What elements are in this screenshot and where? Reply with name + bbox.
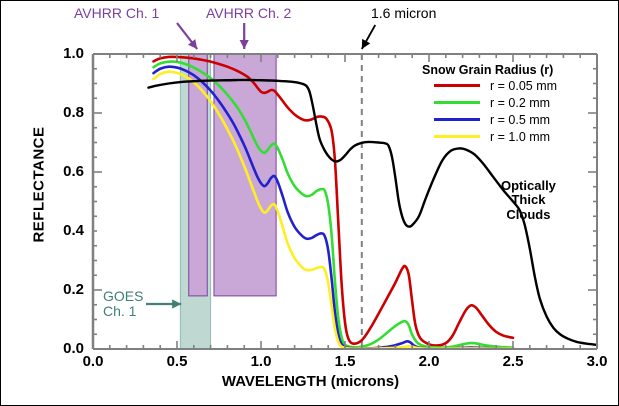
clouds-label-line3: Clouds [501,208,556,222]
x-tick-label: 2.5 [483,353,543,370]
legend-item-label: r = 0.05 mm [490,79,557,93]
x-tick-label: 2.0 [399,353,459,370]
legend-item-2: r = 0.5 mm [422,111,597,128]
legend-item-1: r = 0.2 mm [422,94,597,111]
legend-color-swatch [434,118,480,121]
goes-label-line1: GOES [103,289,143,304]
y-tick-label: 0.6 [34,163,84,180]
y-tick-label: 0.2 [34,281,84,298]
y-tick-label: 0.4 [34,222,84,239]
x-axis-title: WAVELENGTH (microns) [1,373,619,390]
spectral-bands-layer [180,54,276,349]
y-tick-label: 1.0 [34,45,84,62]
legend-item-label: r = 1.0 mm [490,130,550,144]
annotation-1-6-micron: 1.6 micron [371,5,436,21]
arrow-avhrr-ch2-head [240,40,249,49]
arrow-goes-ch1-head [172,299,181,308]
clouds-label-line2: Thick [501,193,556,207]
legend-color-swatch [434,101,480,104]
annotation-optically-thick-clouds: Optically Thick Clouds [501,179,556,222]
legend-item-label: r = 0.2 mm [490,96,550,110]
x-tick-label: 1.0 [231,353,291,370]
y-tick-label: 0.8 [34,104,84,121]
x-tick-label: 1.5 [315,353,375,370]
clouds-label-line1: Optically [501,179,556,193]
annotation-avhrr-ch2: AVHRR Ch. 2 [206,5,291,21]
legend: Snow Grain Radius (r) r = 0.05 mmr = 0.2… [422,63,597,145]
annotation-goes-ch1: GOES Ch. 1 [103,289,143,318]
y-tick-label: 0.0 [34,340,84,357]
x-tick-label: 3.0 [567,353,619,370]
annotation-avhrr-ch1: AVHRR Ch. 1 [74,5,159,21]
legend-color-swatch [434,135,480,138]
goes-label-line2: Ch. 1 [103,304,143,319]
legend-item-3: r = 1.0 mm [422,128,597,145]
x-tick-label: 0.5 [147,353,207,370]
legend-item-0: r = 0.05 mm [422,77,597,94]
legend-items: r = 0.05 mmr = 0.2 mmr = 0.5 mmr = 1.0 m… [422,77,597,145]
legend-color-swatch [434,84,480,87]
legend-title: Snow Grain Radius (r) [422,63,597,77]
figure-container: REFLECTANCE WAVELENGTH (microns) 0.00.51… [0,0,619,406]
legend-item-label: r = 0.5 mm [490,113,550,127]
band-avhrr-ch1 [189,54,207,296]
